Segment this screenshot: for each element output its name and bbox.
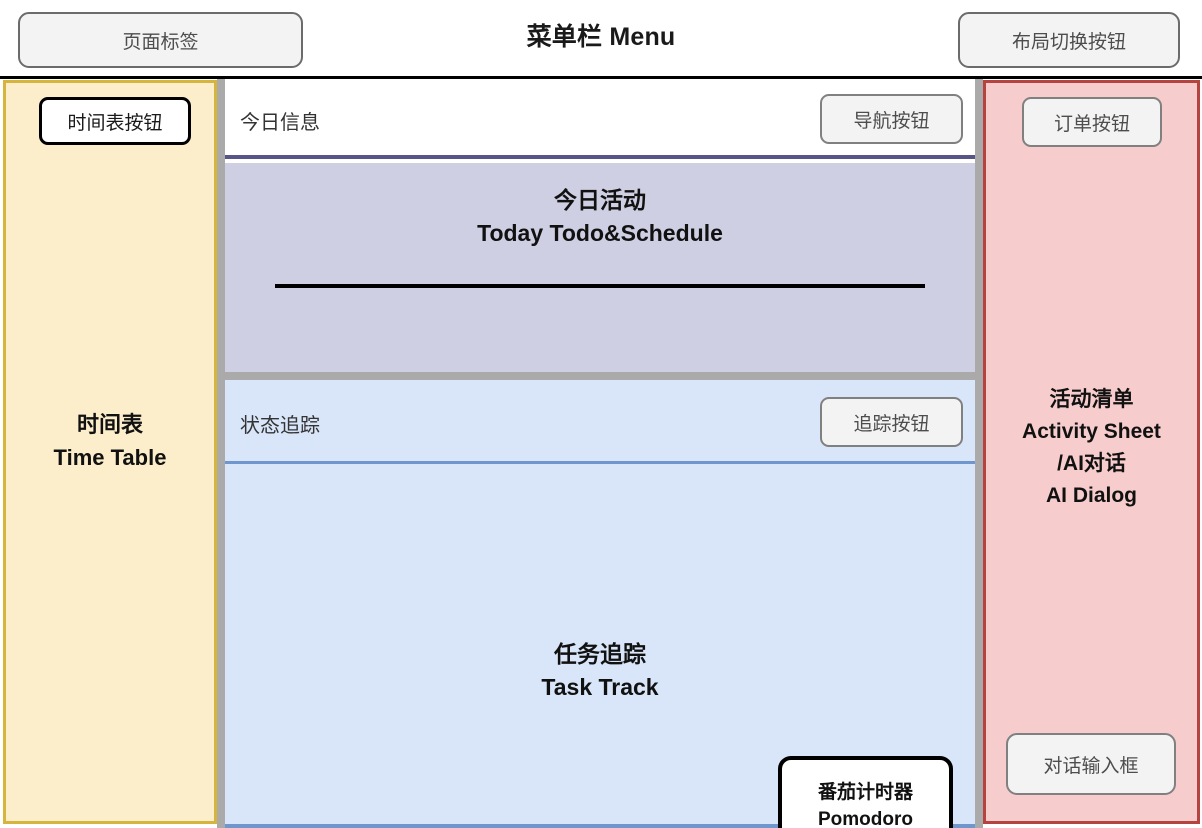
pomodoro-timer-widget[interactable]: 番茄计时器 Pomodoro Timer [778,756,953,828]
layout-toggle-button[interactable]: 布局切换按钮 [958,12,1180,68]
activity-sheet-sidebar: 订单按钮 活动清单 Activity Sheet /AI对话 AI Dialog… [983,80,1200,824]
activity-sheet-panel-label: 活动清单 Activity Sheet /AI对话 AI Dialog [986,384,1197,512]
track-button[interactable]: 追踪按钮 [820,397,963,447]
time-table-sidebar: 时间表按钮 时间表 Time Table [3,80,217,824]
today-info-header: 今日信息 导航按钮 [225,79,975,159]
status-track-header: 状态追踪 追踪按钮 [225,380,975,464]
schedule-divider-line [275,284,925,288]
task-track-panel: 状态追踪 追踪按钮 任务追踪 Task Track 番茄计时器 Pomodoro… [225,380,975,828]
menu-bar: 页面标签 菜单栏 Menu 布局切换按钮 [0,0,1202,79]
navigation-button[interactable]: 导航按钮 [820,94,963,144]
status-track-title: 状态追踪 [240,409,320,438]
center-panel-gap-divider [225,372,975,380]
order-button[interactable]: 订单按钮 [1022,97,1162,147]
time-table-panel-label: 时间表 Time Table [6,408,214,474]
today-todo-schedule-label: 今日活动 Today Todo&Schedule [225,184,975,251]
time-table-button[interactable]: 时间表按钮 [39,97,191,145]
wireframe-canvas: 页面标签 菜单栏 Menu 布局切换按钮 时间表按钮 时间表 Time Tabl… [0,0,1202,828]
dialog-input-box[interactable]: 对话输入框 [1006,733,1176,795]
right-gutter-divider [975,79,983,828]
body-area: 时间表按钮 时间表 Time Table 今日信息 导航按钮 今日活动 Toda… [0,79,1202,828]
center-column: 今日信息 导航按钮 今日活动 Today Todo&Schedule 状态追踪 … [225,79,975,828]
today-info-title: 今日信息 [240,106,320,135]
today-todo-schedule-panel: 今日活动 Today Todo&Schedule [225,163,975,372]
left-gutter-divider [217,79,225,828]
task-track-label: 任务追踪 Task Track [225,638,975,705]
